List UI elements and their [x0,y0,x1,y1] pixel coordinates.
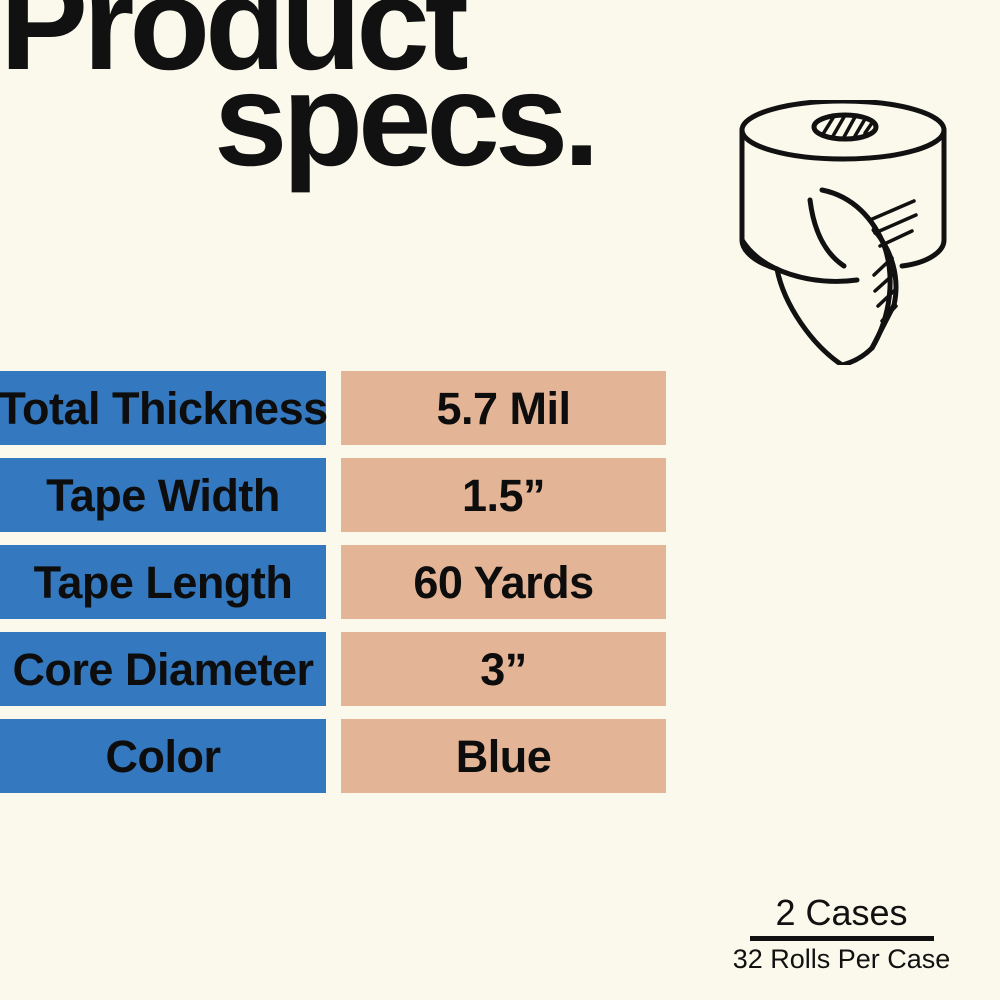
case-count: 2 Cases 32 Rolls Per Case [700,893,983,975]
case-count-per-case: 32 Rolls Per Case [700,943,983,975]
cell-gap [326,632,341,706]
table-row: Tape Length 60 Yards [0,545,700,619]
cell-gap [326,545,341,619]
table-row: Total Thickness 5.7 Mil [0,371,700,445]
case-count-quantity: 2 Cases [700,893,983,933]
spec-label-cell: Total Thickness [0,371,326,445]
table-row: Core Diameter 3” [0,632,700,706]
spec-label-text: Total Thickness [0,386,328,431]
spec-label-text: Tape Width [46,473,280,518]
spec-label-text: Core Diameter [12,647,313,692]
spec-value-text: 1.5” [462,473,545,518]
table-row: Color Blue [0,719,700,793]
spec-value-cell: 5.7 Mil [341,371,666,445]
spec-label-text: Tape Length [34,560,293,605]
page-title: Product specs. [0,0,640,168]
spec-value-text: 3” [480,647,527,692]
cell-gap [326,719,341,793]
spec-value-text: 5.7 Mil [436,386,570,431]
spec-value-text: 60 Yards [413,560,593,605]
spec-value-cell: Blue [341,719,666,793]
product-specs-page: Product specs. [0,0,1000,1000]
spec-label-cell: Core Diameter [0,632,326,706]
spec-value-cell: 1.5” [341,458,666,532]
spec-label-cell: Tape Width [0,458,326,532]
cell-gap [326,371,341,445]
spec-value-text: Blue [456,734,552,779]
spec-label-cell: Tape Length [0,545,326,619]
spec-table: Total Thickness 5.7 Mil Tape Width 1.5” … [0,371,700,806]
spec-value-cell: 3” [341,632,666,706]
case-count-divider [750,936,934,941]
spec-label-text: Color [106,734,221,779]
spec-label-cell: Color [0,719,326,793]
table-row: Tape Width 1.5” [0,458,700,532]
tape-roll-icon [722,100,982,365]
spec-value-cell: 60 Yards [341,545,666,619]
cell-gap [326,458,341,532]
